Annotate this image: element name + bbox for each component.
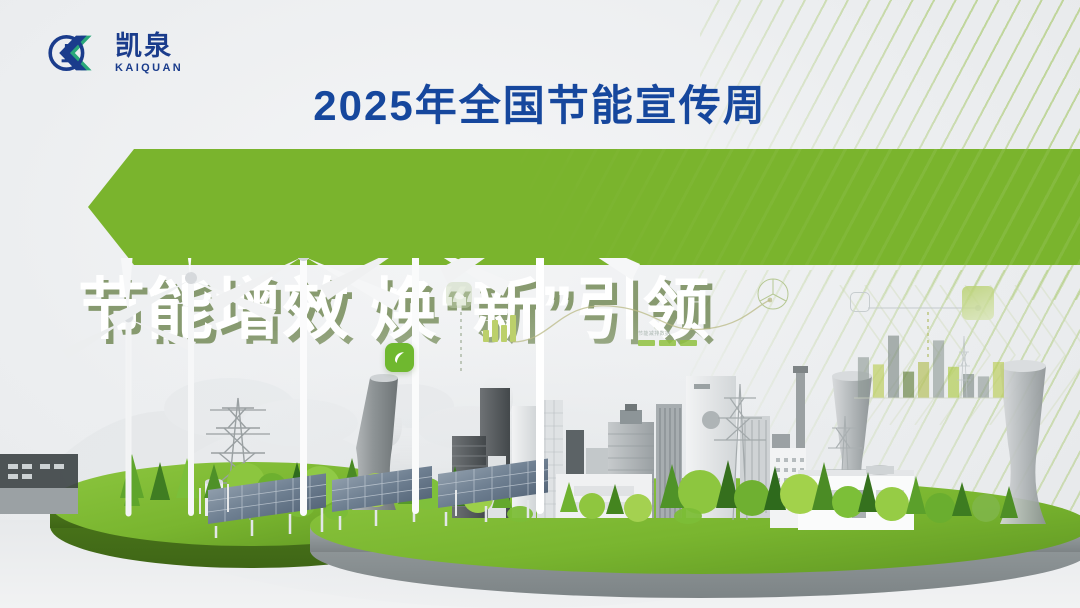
chart-bar — [903, 372, 914, 398]
chart-bar — [858, 357, 869, 398]
chart-bar — [948, 367, 959, 398]
legend-swatch-row — [638, 340, 702, 346]
dotted-connector-left — [460, 312, 462, 374]
chart-bar — [873, 364, 884, 398]
chart-bar — [933, 340, 944, 398]
brand-logo[interactable]: 凯泉 KAIQUAN — [46, 32, 183, 74]
chart-bar — [978, 376, 989, 398]
brand-name-cn: 凯泉 — [115, 33, 183, 60]
kaiquan-circle-x-logo-icon — [46, 32, 106, 74]
leaf-badge — [385, 343, 414, 372]
poster-canvas: 凯泉 KAIQUAN 2025年全国节能宣传周 节能增效 焕“新”引领 — [0, 0, 1080, 608]
square-badge-decor — [850, 292, 870, 312]
green-card-decor — [962, 286, 994, 320]
pie-chart-icon — [757, 278, 789, 310]
legend-decor: 节能减排数据 — [638, 330, 702, 346]
cloud-icon — [453, 289, 466, 302]
page-title: 2025年全国节能宣传周 — [0, 72, 1080, 133]
leaf-icon — [392, 350, 407, 365]
brand-logo-wordmark: 凯泉 KAIQUAN — [115, 33, 183, 74]
chart-bar — [918, 362, 929, 398]
banner-stripe-overlay — [88, 149, 1080, 265]
mini-chart-bar — [483, 330, 489, 342]
chart-bar — [963, 374, 974, 398]
chart-bar — [888, 336, 899, 398]
industrial-strip — [0, 454, 78, 514]
slogan-banner — [88, 149, 1080, 265]
legend-label: 节能减排数据 — [638, 330, 702, 337]
mini-chart-bar — [492, 320, 498, 342]
cloud-badge-faint — [446, 282, 472, 308]
chart-bar — [993, 362, 1004, 398]
mini-chart-bar — [501, 325, 507, 342]
